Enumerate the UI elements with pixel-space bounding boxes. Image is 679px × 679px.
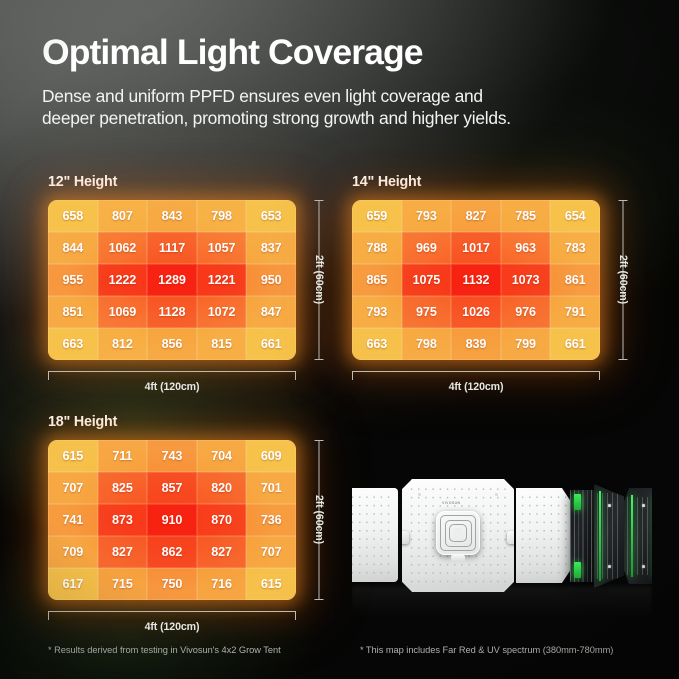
heatmap-cell: 1222 [98, 264, 148, 296]
board-screw [495, 575, 498, 578]
heatmap-cell: 798 [402, 328, 452, 360]
heatmap-cell: 715 [98, 568, 148, 600]
heatmap-cell: 843 [147, 200, 197, 232]
heatmap-cell: 1069 [98, 296, 148, 328]
led-diode-array [352, 493, 395, 578]
heatmap-cell: 1289 [147, 264, 197, 296]
heatmap-cell: 1072 [197, 296, 247, 328]
heatmap-cell: 1062 [98, 232, 148, 264]
heatmap-cell: 1017 [451, 232, 501, 264]
product-stage: VIVOSUN [352, 452, 652, 620]
width-dimension: 4ft (120cm) [48, 611, 296, 633]
led-diode-array [519, 493, 569, 579]
heatmap-cell: 1132 [451, 264, 501, 296]
heatmap-cell: 791 [550, 296, 600, 328]
heatmap-cell: 707 [246, 536, 296, 568]
width-dimension: 4ft (120cm) [352, 371, 600, 393]
heatmap-cell: 793 [402, 200, 452, 232]
heatmap-cell: 793 [352, 296, 402, 328]
heatmap-cell: 1026 [451, 296, 501, 328]
heatmap-cell: 963 [501, 232, 551, 264]
heatmap-cell: 783 [550, 232, 600, 264]
heatmap-cell: 661 [246, 328, 296, 360]
infographic-page: Optimal Light Coverage Dense and uniform… [0, 0, 679, 679]
heatmap-cell: 807 [98, 200, 148, 232]
green-edge-light [599, 491, 601, 580]
heatmap-cell: 711 [98, 440, 148, 472]
heatmap-cell: 820 [197, 472, 247, 504]
heatmap-cell: 798 [197, 200, 247, 232]
heatsink-fins [570, 490, 596, 582]
led-board-left [352, 488, 398, 582]
heatmap-cell: 658 [48, 200, 98, 232]
heatmap-cell: 851 [48, 296, 98, 328]
heatmap-grid-wrap: 6588078437986538441062111710578379551222… [48, 200, 296, 360]
heatmap-cell: 950 [246, 264, 296, 296]
heatmap-cell: 1073 [501, 264, 551, 296]
heatmap-panel-12in: 12" Height 65880784379865384410621117105… [48, 174, 296, 360]
heatmap-cell: 812 [98, 328, 148, 360]
green-accent-stripe [574, 562, 581, 578]
heatmap-cell: 617 [48, 568, 98, 600]
heatmap-cell: 827 [98, 536, 148, 568]
footnote-right: * This map includes Far Red & UV spectru… [360, 645, 613, 655]
heatmap-cell: 847 [246, 296, 296, 328]
height-dimension: 2ft (60cm) [610, 200, 636, 360]
panel-screw [608, 565, 611, 568]
heatmap-cell: 969 [402, 232, 452, 264]
heatmap-cell: 1117 [147, 232, 197, 264]
driver-module [436, 511, 480, 555]
panel-screw [642, 565, 645, 568]
board-screw [418, 493, 421, 496]
width-dimension-label: 4ft (120cm) [145, 381, 200, 393]
heatmap-cell: 615 [48, 440, 98, 472]
heatmap-cell: 750 [147, 568, 197, 600]
heatmap-cell: 955 [48, 264, 98, 296]
height-dimension-label: 2ft (60cm) [313, 492, 325, 547]
heatmap-cell: 609 [246, 440, 296, 472]
footnote-left: * Results derived from testing in Vivosu… [48, 645, 281, 655]
heatmap-cell: 654 [550, 200, 600, 232]
panel-title: 18" Height [48, 414, 296, 430]
heatmap-grid-wrap: 6597938277856547889691017963783865107511… [352, 200, 600, 360]
rear-panel-outer [624, 488, 652, 584]
heatmap-cell: 741 [48, 504, 98, 536]
heatmap-cell: 862 [147, 536, 197, 568]
heatmap-cell: 870 [197, 504, 247, 536]
subtitle-line-2: deeper penetration, promoting strong gro… [42, 107, 632, 130]
heatmap-cell: 704 [197, 440, 247, 472]
heatmap-cell: 857 [147, 472, 197, 504]
subtitle-line-1: Dense and uniform PPFD ensures even ligh… [42, 85, 632, 108]
heatmap-cell: 873 [98, 504, 148, 536]
page-title: Optimal Light Coverage [42, 33, 642, 73]
heatmap-cell: 653 [246, 200, 296, 232]
heatmap-cell: 1075 [402, 264, 452, 296]
board-screw [495, 493, 498, 496]
panel-title: 12" Height [48, 174, 296, 190]
heatmap-cell: 1057 [197, 232, 247, 264]
heatmap-cell: 785 [501, 200, 551, 232]
heatmap-panel-18in: 18" Height 61571174370460970782585782070… [48, 414, 296, 600]
heatmap-cell: 661 [550, 328, 600, 360]
height-dimension: 2ft (60cm) [306, 440, 332, 600]
heatmap-cell: 856 [147, 328, 197, 360]
heatmap-cell: 707 [48, 472, 98, 504]
rear-panel-inner [594, 484, 624, 588]
heatmap-cell: 701 [246, 472, 296, 504]
heatmap-cell: 615 [246, 568, 296, 600]
height-dimension-label: 2ft (60cm) [313, 252, 325, 307]
height-dimension-label: 2ft (60cm) [617, 252, 629, 307]
height-dimension: 2ft (60cm) [306, 200, 332, 360]
heatmap-cell: 976 [501, 296, 551, 328]
panel-screw [608, 504, 611, 507]
width-dimension: 4ft (120cm) [48, 371, 296, 393]
green-edge-light [631, 495, 633, 578]
heatmap-cell: 861 [550, 264, 600, 296]
heatmap-cell: 844 [48, 232, 98, 264]
heatmap-cell: 663 [48, 328, 98, 360]
heatmap-cell: 825 [98, 472, 148, 504]
surface-reflection [352, 586, 652, 620]
heatmap-cell: 736 [246, 504, 296, 536]
heatmap-cell: 827 [197, 536, 247, 568]
heatmap-cell: 659 [352, 200, 402, 232]
heatmap-cell: 663 [352, 328, 402, 360]
heatmap-cell: 839 [451, 328, 501, 360]
panel-screw [642, 504, 645, 507]
heatmap-cell: 910 [147, 504, 197, 536]
heatmap-cell: 837 [246, 232, 296, 264]
driver-connector [451, 555, 465, 562]
driver-core [453, 528, 463, 538]
heatmap-panel-14in: 14" Height 65979382778565478896910179637… [352, 174, 600, 360]
brand-wordmark: VIVOSUN [442, 501, 460, 505]
heatmap-cell: 975 [402, 296, 452, 328]
ppfd-heatmap: 6157117437046097078258578207017418739108… [48, 440, 296, 600]
heatmap-cell: 815 [197, 328, 247, 360]
width-dimension-label: 4ft (120cm) [449, 381, 504, 393]
board-screw [418, 575, 421, 578]
heatmap-cell: 827 [451, 200, 501, 232]
heatmap-cell: 743 [147, 440, 197, 472]
width-dimension-label: 4ft (120cm) [145, 621, 200, 633]
ppfd-heatmap: 6588078437986538441062111710578379551222… [48, 200, 296, 360]
heatmap-cell: 1128 [147, 296, 197, 328]
heatmap-cell: 865 [352, 264, 402, 296]
heatmap-cell: 709 [48, 536, 98, 568]
heatmap-cell: 788 [352, 232, 402, 264]
led-board-center: VIVOSUN [402, 479, 514, 592]
heatmap-cell: 1221 [197, 264, 247, 296]
panel-title: 14" Height [352, 174, 600, 190]
green-accent-stripe [574, 494, 581, 510]
heatmap-cell: 799 [501, 328, 551, 360]
heatmap-grid-wrap: 6157117437046097078258578207017418739108… [48, 440, 296, 600]
ppfd-heatmap: 6597938277856547889691017963783865107511… [352, 200, 600, 360]
header: Optimal Light Coverage Dense and uniform… [42, 33, 642, 130]
heatmap-cell: 716 [197, 568, 247, 600]
led-board-right [516, 488, 572, 583]
product-photo: VIVOSUN [352, 452, 652, 620]
page-subtitle: Dense and uniform PPFD ensures even ligh… [42, 85, 632, 130]
